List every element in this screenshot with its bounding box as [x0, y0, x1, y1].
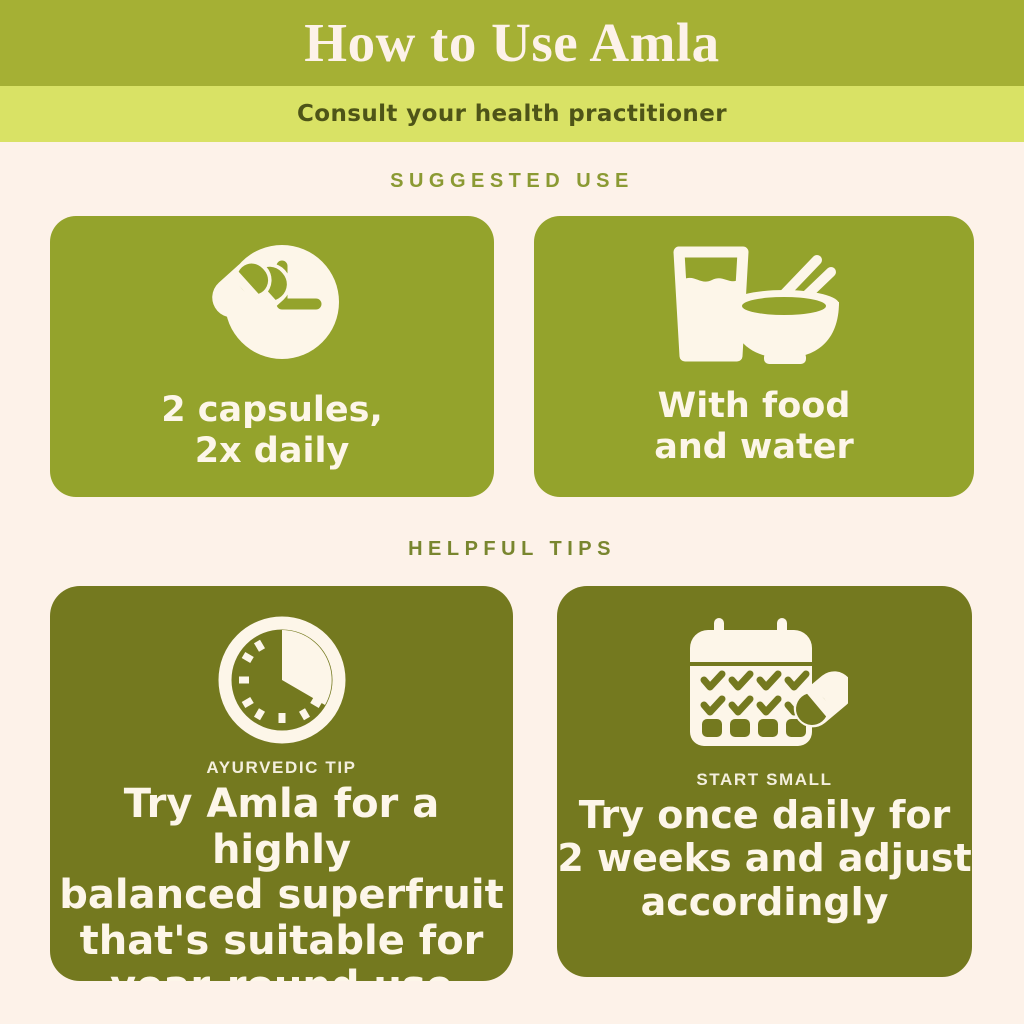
card-eyebrow: AYURVEDIC TIP — [206, 758, 356, 778]
card-suggested-use-dosage[interactable]: 2 capsules, 2x daily — [50, 216, 494, 497]
card-helpful-tip-start-small[interactable]: START SMALL Try once daily for 2 weeks a… — [557, 586, 972, 977]
card-title: With food and water — [654, 386, 853, 469]
calendar-with-checks-and-capsule-icon — [682, 618, 848, 758]
clock-pie-icon — [218, 616, 346, 744]
card-body: Try once daily for 2 weeks and adjust ac… — [557, 794, 971, 924]
card-suggested-use-food-water[interactable]: With food and water — [534, 216, 974, 497]
card-helpful-tip-ayurvedic[interactable]: AYURVEDIC TIP Try Amla for a highly bala… — [50, 586, 513, 981]
glass-and-bowl-icon — [667, 246, 842, 366]
section-label-suggested-use: SUGGESTED USE — [0, 170, 1024, 193]
header-band: How to Use Amla — [0, 0, 1024, 86]
subheader-band: Consult your health practitioner — [0, 86, 1024, 142]
card-eyebrow: START SMALL — [696, 770, 832, 790]
page-subtitle: Consult your health practitioner — [297, 101, 727, 127]
card-title: 2 capsules, 2x daily — [161, 390, 383, 473]
card-body: Try Amla for a highly balanced superfrui… — [50, 782, 513, 981]
infographic-page: How to Use Amla Consult your health prac… — [0, 0, 1024, 1024]
page-title: How to Use Amla — [304, 14, 719, 72]
clock-with-capsules-icon — [198, 244, 346, 370]
section-label-helpful-tips: HELPFUL TIPS — [0, 538, 1024, 561]
